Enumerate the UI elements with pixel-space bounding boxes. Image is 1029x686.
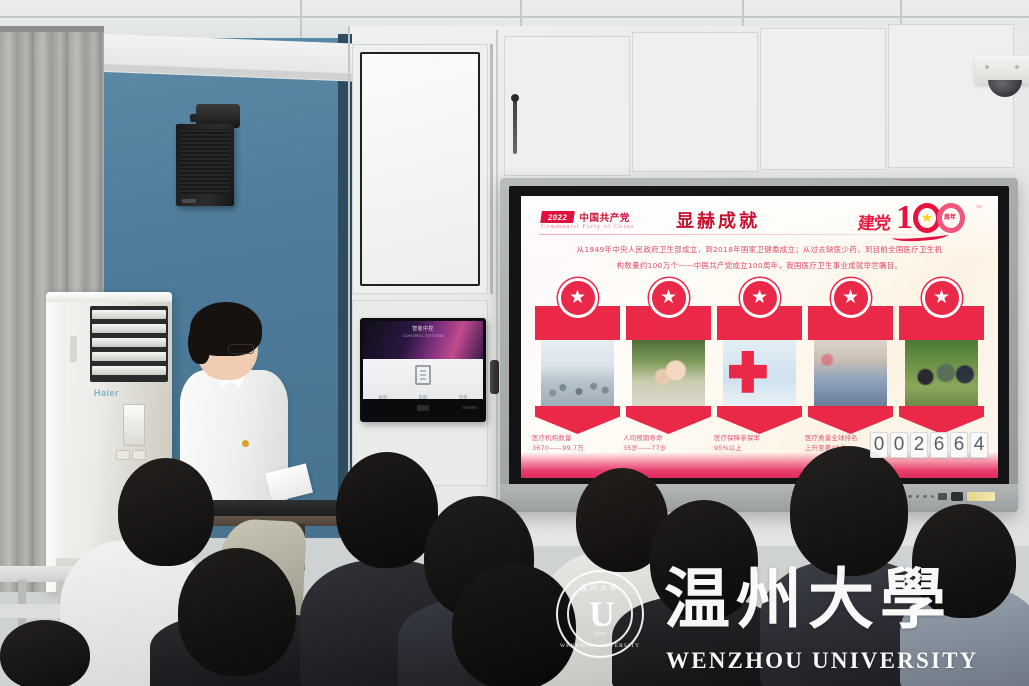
port-dot-icon bbox=[923, 495, 927, 499]
speaker-logo bbox=[182, 199, 196, 203]
star-medal-icon: ★ bbox=[831, 278, 871, 318]
counter-digit: 6 bbox=[930, 432, 948, 458]
watermark-chinese-name: 温州大學 bbox=[664, 564, 952, 637]
wall-speaker bbox=[176, 124, 234, 206]
counter-digit: 0 bbox=[870, 432, 888, 458]
star-medal-icon: ★ bbox=[922, 278, 962, 318]
seal-chinese-text: 温州大学 bbox=[558, 583, 642, 593]
audience-head bbox=[0, 620, 90, 686]
wall-panel-b bbox=[632, 32, 758, 172]
control-panel-footer: seewo bbox=[363, 399, 483, 419]
control-panel-subtitle: CONTROL SYSTEM bbox=[363, 333, 483, 338]
ac-button-left[interactable] bbox=[116, 450, 130, 460]
control-panel-title: 智能中控 bbox=[363, 325, 483, 332]
panel-caption-line-1: 人均预期寿命 bbox=[623, 434, 723, 444]
ac-button-right[interactable] bbox=[132, 450, 146, 460]
usb-port-icon[interactable] bbox=[938, 493, 947, 500]
star-medal-icon: ★ bbox=[740, 278, 780, 318]
wall-panel-a bbox=[504, 36, 630, 176]
audience-head bbox=[790, 446, 908, 576]
port-dot-icon bbox=[908, 495, 912, 499]
university-seal-logo: 温州大学 U 1933 WENZHOU UNIVERSITY bbox=[556, 570, 644, 658]
slide-body-text: 从1949年中央人民政府卫生部成立，到2018年国家卫健委成立；从过去缺医少药，… bbox=[561, 242, 958, 273]
visitor-counter: 0 0 2 6 6 4 bbox=[870, 432, 988, 458]
panel-photo bbox=[814, 340, 887, 406]
panel-photo bbox=[723, 340, 796, 406]
star-medal-icon: ★ bbox=[649, 278, 689, 318]
university-watermark: 温州大学 U 1933 WENZHOU UNIVERSITY 温州大學 WENZ… bbox=[546, 560, 1016, 676]
stylus-tip-icon bbox=[511, 94, 519, 102]
star-medal-icon: ★ bbox=[558, 278, 598, 318]
achievement-panel[interactable]: ★ bbox=[899, 292, 984, 434]
ac-brand-label: Haier bbox=[94, 388, 119, 398]
counter-digit: 0 bbox=[890, 432, 908, 458]
panel-caption: 医疗机构数量 3670——99.7万 bbox=[532, 434, 632, 454]
achievement-panel[interactable]: ★ 医疗质量全球排名 上升至第48位 bbox=[808, 292, 893, 434]
wall-bracket-knob bbox=[490, 360, 499, 394]
counter-digit: 6 bbox=[950, 432, 968, 458]
presenter-hair-side bbox=[188, 322, 210, 364]
party-badge-pin-icon bbox=[242, 440, 249, 447]
cpc-centenary-logo: 建党 1 ★ 周年 ™ bbox=[858, 201, 984, 241]
whiteboard-panel-left[interactable] bbox=[360, 52, 480, 286]
slide-body-line-2: 构数量约100万个——中国共产党成立100周年，我国医疗卫生事业成就举世瞩目。 bbox=[561, 258, 958, 274]
status-label bbox=[967, 492, 995, 501]
audience-head bbox=[118, 458, 214, 566]
wall-seam bbox=[496, 30, 498, 530]
wall-panel-d bbox=[888, 24, 1014, 168]
achievement-panel[interactable]: ★ 医疗保障参保率 95%以上 bbox=[717, 292, 802, 434]
panel-photo bbox=[632, 340, 705, 406]
glasses-icon bbox=[228, 344, 254, 354]
panel-arrow bbox=[717, 406, 802, 434]
classroom-photo-scene: Haier 智能中控 CONTROL SYSTEM 投影 电脑 音量 seewo bbox=[0, 0, 1029, 686]
ac-side-panel bbox=[46, 302, 66, 592]
presentation-slide: 2022 中国共产党 Communist Party of China 显赫成就… bbox=[521, 196, 998, 478]
control-panel-header: 智能中控 CONTROL SYSTEM bbox=[363, 321, 483, 359]
badge-year: 2022 bbox=[540, 211, 575, 223]
ac-control-panel[interactable] bbox=[123, 404, 145, 446]
panel-arrow bbox=[808, 406, 893, 434]
wall-seam bbox=[348, 26, 350, 546]
panel-arrow bbox=[626, 406, 711, 434]
port-dot-icon bbox=[916, 495, 920, 499]
ac-top-cap bbox=[46, 292, 172, 302]
logo-anniversary-text: 周年 bbox=[944, 212, 956, 221]
badge-party-cn: 中国共产党 bbox=[579, 210, 630, 224]
panel-photo bbox=[905, 340, 978, 406]
panel-arrow bbox=[535, 406, 620, 434]
ceiling-grid-line bbox=[0, 16, 1029, 18]
logo-digit-one: 1 bbox=[896, 201, 913, 235]
badge-party-en: Communist Party of China bbox=[541, 224, 634, 230]
panel-photo bbox=[541, 340, 614, 406]
slide-body-line-1: 从1949年中央人民政府卫生部成立，到2018年国家卫健委成立；从过去缺医少药，… bbox=[561, 242, 958, 258]
audience-head bbox=[336, 452, 438, 568]
ceiling-grid-line bbox=[900, 0, 902, 26]
control-panel-brand: seewo bbox=[463, 405, 477, 411]
speaker-grille-icon bbox=[180, 129, 230, 194]
counter-digit: 4 bbox=[970, 432, 988, 458]
ac-label-strip bbox=[70, 336, 77, 362]
projector-icon bbox=[415, 365, 431, 385]
ac-vent-grille bbox=[90, 306, 168, 382]
panel-caption: 人均预期寿命 35岁——77岁 bbox=[623, 434, 723, 454]
display-port-row[interactable] bbox=[893, 492, 995, 501]
counter-digit: 2 bbox=[910, 432, 928, 458]
control-panel-home-button[interactable] bbox=[417, 405, 429, 411]
display-screen[interactable]: 2022 中国共产党 Communist Party of China 显赫成就… bbox=[521, 196, 998, 478]
panel-caption: 医疗保障参保率 95%以上 bbox=[714, 434, 814, 454]
achievement-panel[interactable]: ★ 医疗机构数量 3670——99.7万 bbox=[535, 292, 620, 434]
logo-lead-text: 建党 bbox=[857, 209, 892, 234]
panel-caption-line-1: 医疗保障参保率 bbox=[714, 434, 814, 444]
achievement-panels: ★ 医疗机构数量 3670——99.7万 ★ 人均预期寿命 bbox=[535, 292, 984, 434]
logo-superscript: ™ bbox=[975, 205, 982, 212]
ir-receiver-icon bbox=[951, 492, 963, 501]
touch-control-panel[interactable]: 智能中控 CONTROL SYSTEM 投影 电脑 音量 seewo bbox=[360, 318, 486, 422]
panel-arrow bbox=[899, 406, 984, 434]
wall-panel-c bbox=[760, 28, 886, 170]
slide-title: 显赫成就 bbox=[676, 207, 760, 233]
panel-divider bbox=[490, 44, 493, 294]
seal-letter-u: U bbox=[589, 596, 611, 632]
watermark-english-name: WENZHOU UNIVERSITY bbox=[666, 648, 978, 674]
audience-head bbox=[178, 548, 296, 676]
logo-star-icon: ★ bbox=[921, 211, 933, 224]
panel-caption-line-1: 医疗机构数量 bbox=[532, 434, 632, 444]
slide-party-badge: 2022 中国共产党 bbox=[541, 210, 630, 224]
achievement-panel[interactable]: ★ 人均预期寿命 35岁——77岁 bbox=[626, 292, 711, 434]
stylus-holder[interactable] bbox=[513, 98, 517, 154]
seal-english-text: WENZHOU UNIVERSITY bbox=[558, 643, 642, 649]
port-dot-icon bbox=[931, 495, 935, 499]
